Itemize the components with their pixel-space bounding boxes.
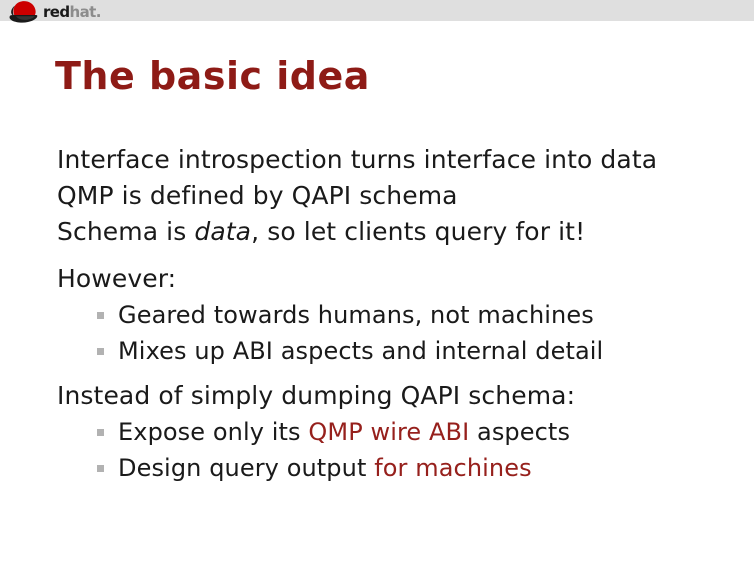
redhat-logo: redhat. — [6, 0, 176, 28]
intro-line-3-suffix: , so let clients query for it! — [251, 217, 585, 246]
spacer-2 — [57, 369, 717, 378]
square-bullet-icon — [97, 312, 104, 319]
square-bullet-icon — [97, 348, 104, 355]
list-item: Design query output for machines — [57, 450, 717, 486]
section-1-lead: However: — [57, 261, 717, 297]
logo-word-red: red — [43, 3, 70, 21]
logo-word-hat: hat — [70, 3, 96, 21]
section-2-lead: Instead of simply dumping QAPI schema: — [57, 378, 717, 414]
intro-line-3: Schema is data, so let clients query for… — [57, 214, 717, 250]
section-2-bullet-list: Expose only its QMP wire ABI aspects Des… — [57, 414, 717, 486]
square-bullet-icon — [97, 465, 104, 472]
intro-line-1: Interface introspection turns interface … — [57, 142, 717, 178]
redhat-wordmark: redhat. — [43, 5, 101, 20]
list-item-prefix: Expose only its — [118, 418, 308, 446]
spacer-1 — [57, 250, 717, 261]
redhat-fedora-icon — [6, 0, 42, 26]
intro-line-3-emphasis: data — [194, 217, 251, 246]
list-item-highlight: QMP wire ABI — [308, 418, 469, 446]
logo-word-dot: . — [96, 3, 101, 21]
intro-paragraph: Interface introspection turns interface … — [57, 142, 717, 250]
square-bullet-icon — [97, 429, 104, 436]
list-item: Mixes up ABI aspects and internal detail — [57, 333, 717, 369]
list-item-suffix: aspects — [469, 418, 570, 446]
slide-content: Interface introspection turns interface … — [57, 142, 717, 486]
list-item-label: Mixes up ABI aspects and internal detail — [118, 337, 603, 365]
intro-line-2: QMP is defined by QAPI schema — [57, 178, 717, 214]
list-item: Expose only its QMP wire ABI aspects — [57, 414, 717, 450]
intro-line-3-prefix: Schema is — [57, 217, 194, 246]
list-item-label: Geared towards humans, not machines — [118, 301, 594, 329]
section-1-bullet-list: Geared towards humans, not machines Mixe… — [57, 297, 717, 369]
list-item-prefix: Design query output — [118, 454, 374, 482]
list-item: Geared towards humans, not machines — [57, 297, 717, 333]
list-item-highlight: for machines — [374, 454, 531, 482]
page-title: The basic idea — [55, 56, 370, 98]
